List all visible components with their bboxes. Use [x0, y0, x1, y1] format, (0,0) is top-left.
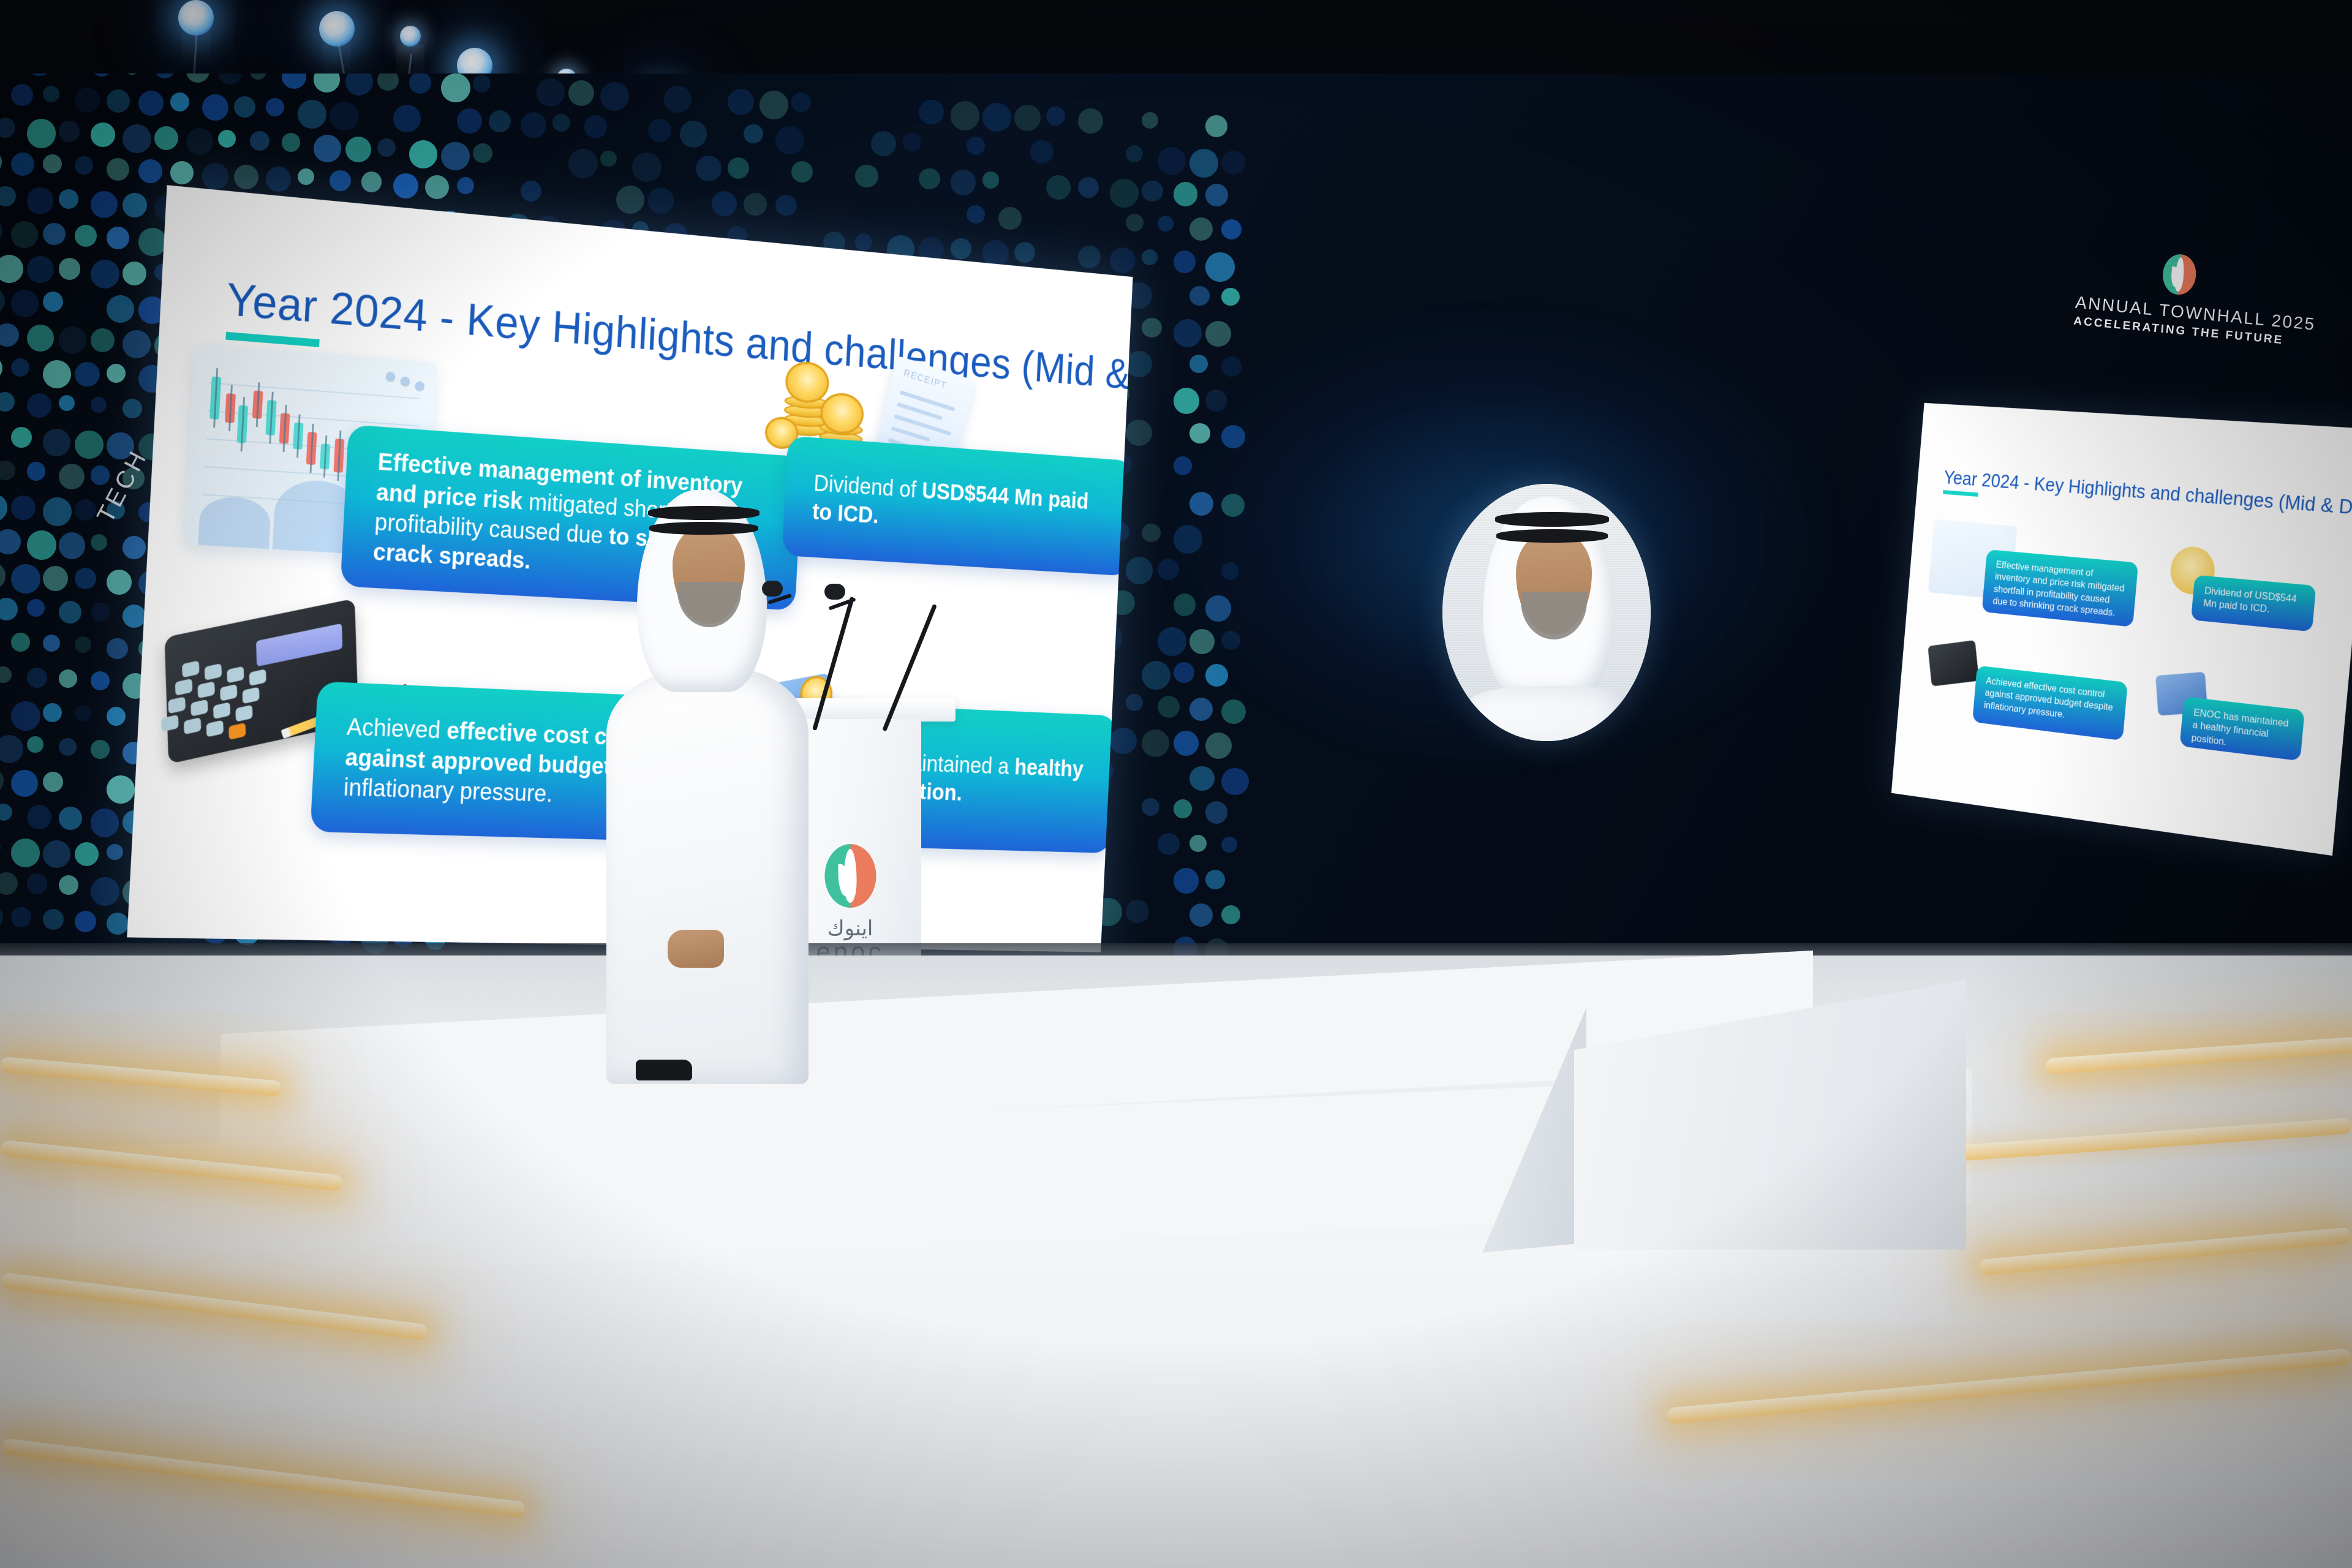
side-screen-underline	[1943, 490, 1978, 497]
led-strip-6	[1, 1272, 428, 1340]
led-strip-3	[1911, 1118, 2352, 1164]
side-callout-2: Dividend of USD$544 Mn paid to ICD.	[2191, 575, 2316, 632]
moving-head-light	[318, 11, 355, 78]
side-screen-title: Year 2024 - Key Highlights and challenge…	[1943, 466, 2352, 526]
speaker-shoe	[636, 1060, 692, 1080]
side-callout-3: Achieved effective cost control against …	[1972, 665, 2128, 741]
side-callout-1: Effective management of inventory and pr…	[1981, 549, 2138, 627]
led-strip-1	[2046, 1036, 2352, 1074]
speaker-hand	[668, 930, 724, 968]
stage-floor	[0, 956, 2352, 1568]
side-callout-4: ENOC has maintained a healthy financial …	[2179, 696, 2304, 761]
feed-speaker-portrait	[1442, 484, 1651, 741]
side-confidence-screen: Year 2024 - Key Highlights and challenge…	[1891, 403, 2352, 856]
stage-wedge-prop	[1482, 980, 1972, 1268]
led-strip-8	[1, 1438, 526, 1518]
slide-title-underline	[225, 332, 319, 347]
stage-scene: TECH ANNUAL TOWNHALL 2025 ACCELERATING T…	[0, 0, 2352, 1568]
enoc-logo-icon	[2161, 253, 2198, 296]
led-strip-7	[1667, 1348, 2351, 1424]
moving-head-light	[178, 0, 214, 67]
led-strip-5	[1978, 1227, 2352, 1275]
microphone-right	[796, 573, 931, 732]
callout-dividend-icd: Dividend of USD$544 Mn paid to ICD.	[782, 435, 1133, 576]
side-calculator-icon	[1928, 640, 1979, 687]
live-camera-feed-circle	[1442, 484, 1651, 741]
